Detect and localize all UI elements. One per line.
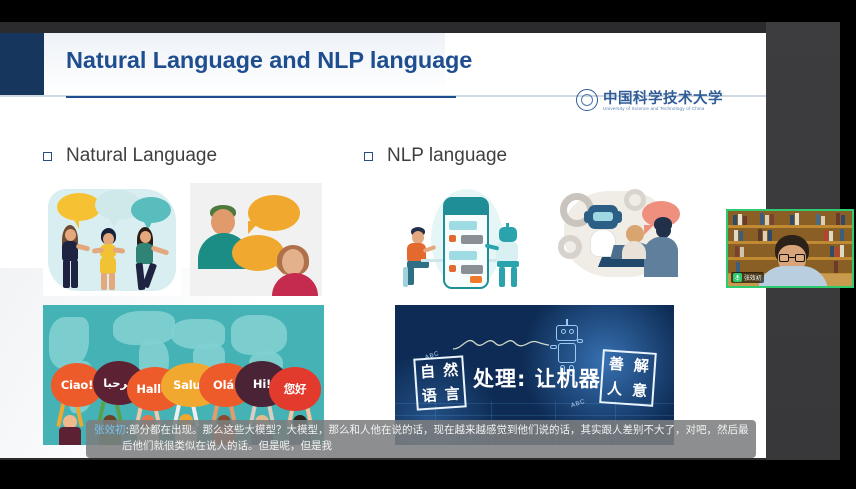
- title-underline: [66, 96, 456, 98]
- university-logo: 中国科学技术大学 University of Science and Techn…: [576, 85, 706, 119]
- column-label: NLP language: [387, 145, 507, 167]
- illustration-people-talking: [43, 183, 181, 296]
- page-title: Natural Language and NLP language: [66, 47, 446, 74]
- square-bullet-icon: [43, 152, 52, 161]
- logo-name-cn: 中国科学技术大学: [603, 87, 723, 108]
- title-accent-block: [0, 33, 44, 95]
- greeting-text: Ciao!: [61, 378, 93, 392]
- greeting-bubble: 您好: [269, 367, 321, 411]
- eyeglasses: [779, 254, 805, 262]
- greeting-text: 您好: [284, 381, 307, 397]
- zoom-meeting-window: Natural Language and NLP language 中国科学技术…: [0, 0, 856, 489]
- window-bottom-bar: [0, 460, 856, 489]
- column-heading-natural-language: Natural Language: [43, 145, 217, 167]
- illustration-robot-assistant: [552, 183, 684, 296]
- nlp-stamp-left: 自 然 语 言: [413, 355, 467, 410]
- caption-line-1: 张效初:部分都在出现。那么这些大模型？大模型，那么和人他在说的话，现在越来越感觉…: [94, 422, 748, 438]
- participant-name-badge: 张效初: [731, 272, 764, 283]
- microphone-icon: [733, 273, 742, 282]
- column-heading-nlp-language: NLP language: [364, 145, 507, 167]
- waveform-graphic: [453, 331, 549, 355]
- university-seal-icon: [576, 89, 598, 111]
- participant-video-tile[interactable]: 张效初: [726, 209, 854, 288]
- logo-name-en: University of Science and Technology of …: [603, 106, 704, 111]
- participant-name: 张效初: [744, 273, 761, 282]
- illustration-two-people-bubbles: [190, 183, 322, 296]
- nlp-banner-middle-text: 处理: 让机器: [473, 363, 601, 393]
- column-label: Natural Language: [66, 145, 217, 167]
- shared-slide[interactable]: Natural Language and NLP language 中国科学技术…: [0, 33, 766, 458]
- caption-speaker-name: 张效初: [94, 424, 126, 436]
- window-top-bar: [0, 0, 856, 22]
- live-caption-panel[interactable]: 张效初:部分都在出现。那么这些大模型？大模型，那么和人他在说的话，现在越来越感觉…: [86, 420, 756, 458]
- illustration-chatbot-phone: [395, 183, 543, 296]
- square-bullet-icon: [364, 152, 373, 161]
- caption-text-1: 部分都在出现。那么这些大模型？大模型，那么和人他在说的话，现在越来越感觉到他们说…: [129, 424, 749, 436]
- nlp-stamp-right: 善 解 人 意: [599, 349, 657, 407]
- caption-line-2: 后他们就很类似在说人的话。但是呢，但是我: [94, 438, 748, 454]
